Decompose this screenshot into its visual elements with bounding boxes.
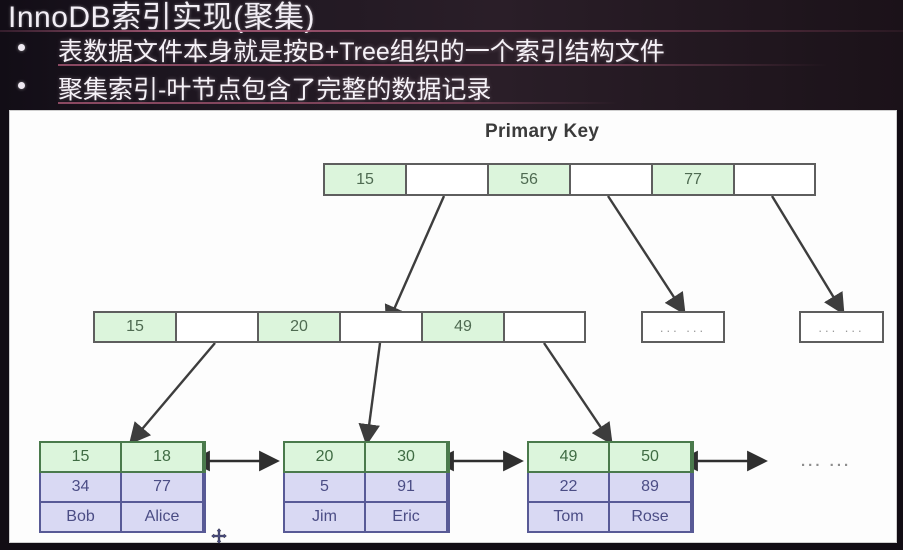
bullet-text-2: 聚集索引-叶节点包含了完整的数据记录: [58, 70, 491, 106]
leaf-1-name-0: Bob: [41, 503, 122, 531]
leaf-3-name-0: Tom: [529, 503, 610, 531]
root-cell-3: [571, 165, 653, 194]
root-cell-2: 56: [489, 165, 571, 194]
leaf-3-key-1: 50: [610, 443, 692, 471]
leaf-2-data-row-1: 5 91: [283, 473, 450, 503]
root-cell-1: [407, 165, 489, 194]
leaf-3-name-1: Rose: [610, 503, 692, 531]
bullet-underline-2: [58, 102, 618, 104]
diagram-caption: Primary Key: [485, 121, 599, 143]
bullet-item-1: 表数据文件本身就是按B+Tree组织的一个索引结构文件: [0, 30, 903, 68]
leaf-1-key-row: 15 18: [39, 441, 206, 473]
bullet-text-1: 表数据文件本身就是按B+Tree组织的一个索引结构文件: [58, 32, 665, 68]
leaf-2-key-0: 20: [285, 443, 366, 471]
leaf-1-val-1: 77: [122, 473, 204, 501]
leaf-2-val-1: 91: [366, 473, 448, 501]
leaf-1-val-0: 34: [41, 473, 122, 501]
leaf-2-val-0: 5: [285, 473, 366, 501]
leaf-1-data-row-1: 34 77: [39, 473, 206, 503]
leaf-2-key-row: 20 30: [283, 441, 450, 473]
root-node: 15 56 77: [323, 163, 816, 196]
leaf-2-data-row-2: Jim Eric: [283, 503, 450, 533]
leaf-1-name-1: Alice: [122, 503, 204, 531]
leaf-3-key-0: 49: [529, 443, 610, 471]
bullet-dot-icon: [18, 44, 25, 51]
leaf-3-val-0: 22: [529, 473, 610, 501]
leaf-1-data-row-2: Bob Alice: [39, 503, 206, 533]
slide-root: InnoDB索引实现(聚集) 表数据文件本身就是按B+Tree组织的一个索引结构…: [0, 0, 903, 550]
leaf-2-name-0: Jim: [285, 503, 366, 531]
slide-edge-left: [0, 110, 9, 550]
leaf-3-data-row-1: 22 89: [527, 473, 694, 503]
leaf-2-key-1: 30: [366, 443, 448, 471]
internal-cell-5: [505, 313, 584, 341]
leaf-3-key-row: 49 50: [527, 441, 694, 473]
internal-node: 15 20 49: [93, 311, 586, 343]
leaf-3-val-1: 89: [610, 473, 692, 501]
internal-node-placeholder-2: ... ...: [799, 311, 884, 343]
root-cell-4: 77: [653, 165, 735, 194]
leaf-3-data-row-2: Tom Rose: [527, 503, 694, 533]
leaf-1-key-0: 15: [41, 443, 122, 471]
internal-cell-1: [177, 313, 259, 341]
root-cell-0: 15: [325, 165, 407, 194]
leaf-node-3: 49 50 22 89 Tom Rose: [527, 441, 694, 533]
leaf-2-name-1: Eric: [366, 503, 448, 531]
bullet-dot-icon: [18, 82, 25, 89]
slide-header: InnoDB索引实现(聚集) 表数据文件本身就是按B+Tree组织的一个索引结构…: [0, 0, 903, 110]
bullet-underline-1: [58, 64, 828, 66]
internal-cell-2: 20: [259, 313, 341, 341]
leaf-node-2: 20 30 5 91 Jim Eric: [283, 441, 450, 533]
leaf-tail-ellipsis: ... ...: [801, 453, 851, 470]
leaf-node-1: 15 18 34 77 Bob Alice: [39, 441, 206, 533]
move-cursor-icon: [211, 528, 227, 544]
internal-cell-4: 49: [423, 313, 505, 341]
btree-diagram: Primary Key 15 56 77 15 20 49 ... ... ..…: [9, 110, 897, 543]
internal-cell-0: 15: [95, 313, 177, 341]
leaf-1-key-1: 18: [122, 443, 204, 471]
internal-cell-3: [341, 313, 423, 341]
bullet-item-2: 聚集索引-叶节点包含了完整的数据记录: [0, 68, 903, 106]
internal-node-placeholder-1: ... ...: [641, 311, 725, 343]
root-cell-5: [735, 165, 814, 194]
